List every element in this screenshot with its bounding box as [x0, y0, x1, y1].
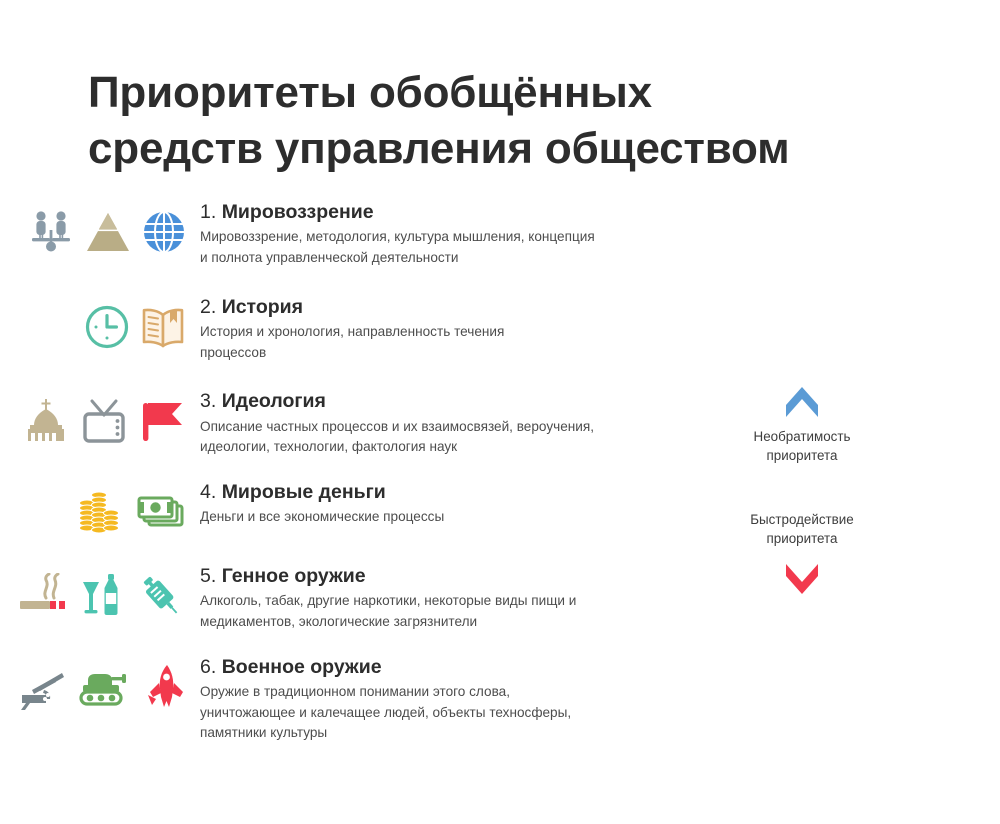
priority-item-3-heading: 3. Идеология	[200, 389, 720, 413]
priority-item-1: 1. Мировоззрение Мировоззрение, методоло…	[0, 200, 720, 269]
priority-item-1-icons	[0, 200, 200, 258]
priority-item-4-texts: 4. Мировые деньги Деньги и все экономиче…	[200, 480, 720, 528]
priority-item-4: 4. Мировые деньги Деньги и все экономиче…	[0, 480, 720, 538]
priority-item-3-name: Идеология	[222, 390, 326, 412]
flag-icon	[138, 397, 186, 445]
chevron-down-icon	[785, 563, 819, 595]
annotation-irreversibility-line-1: Необратимость	[712, 427, 892, 446]
cigarette-icon	[18, 573, 70, 619]
priority-item-5-name: Генное оружие	[222, 565, 366, 587]
page-title-line-2: средств управления обществом	[88, 121, 938, 177]
priority-item-1-texts: 1. Мировоззрение Мировоззрение, методоло…	[200, 200, 720, 269]
priority-item-3-texts: 3. Идеология Описание частных процессов …	[200, 389, 720, 458]
page-title: Приоритеты обобщённых средств управления…	[88, 65, 938, 177]
priority-item-4-description: Деньги и все экономические процессы	[200, 507, 600, 528]
annotations-panel: Необратимость приоритета Быстродействие …	[712, 386, 892, 595]
priority-item-6-description: Оружие в традиционном понимании этого сл…	[200, 682, 600, 744]
annotation-speed: Быстродействие приоритета	[712, 510, 892, 549]
priority-item-5: 5. Генное оружие Алкоголь, табак, другие…	[0, 564, 720, 633]
priority-item-5-icons	[0, 564, 200, 622]
annotation-speed-line-2: приоритета	[712, 529, 892, 548]
clock-icon	[84, 304, 130, 350]
annotation-irreversibility-line-2: приоритета	[712, 446, 892, 465]
chevron-up-icon	[785, 386, 819, 418]
priority-item-2: 2. История История и хронология, направл…	[0, 295, 720, 364]
church-icon	[22, 397, 70, 445]
priority-item-1-name: Мировоззрение	[222, 201, 374, 223]
priority-item-5-number: 5.	[200, 565, 216, 587]
priority-item-6-name: Военное оружие	[222, 656, 382, 678]
priority-item-3-icons	[0, 389, 200, 447]
priority-item-4-name: Мировые деньги	[222, 481, 386, 503]
priority-item-5-heading: 5. Генное оружие	[200, 564, 720, 588]
page-title-line-1: Приоритеты обобщённых	[88, 65, 938, 121]
priority-item-3-number: 3.	[200, 390, 216, 412]
rocket-icon	[140, 663, 186, 711]
priority-item-4-number: 4.	[200, 481, 216, 503]
globe-icon	[142, 210, 186, 254]
priority-item-6-heading: 6. Военное оружие	[200, 655, 720, 679]
rifle-icon	[18, 664, 68, 710]
annotation-irreversibility: Необратимость приоритета	[712, 427, 892, 466]
priority-list: 1. Мировоззрение Мировоззрение, методоло…	[0, 200, 720, 744]
coin-stacks-icon	[76, 489, 124, 535]
priority-item-5-description: Алкоголь, табак, другие наркотики, некот…	[200, 591, 600, 632]
priority-item-2-texts: 2. История История и хронология, направл…	[200, 295, 720, 364]
priority-item-6-icons	[0, 655, 200, 713]
annotations-divider	[712, 466, 892, 510]
annotation-speed-line-1: Быстродействие	[712, 510, 892, 529]
priority-item-3: 3. Идеология Описание частных процессов …	[0, 389, 720, 458]
priority-item-6: 6. Военное оружие Оружие в традиционном …	[0, 655, 720, 744]
priority-item-1-description: Мировоззрение, методология, культура мыш…	[200, 227, 600, 268]
priority-item-2-icons	[0, 295, 200, 353]
open-book-icon	[140, 306, 186, 348]
pyramid-icon	[84, 210, 132, 254]
priority-item-2-name: История	[222, 296, 303, 318]
priority-item-6-texts: 6. Военное оружие Оружие в традиционном …	[200, 655, 720, 744]
tank-icon	[78, 665, 130, 709]
people-balance-icon	[28, 210, 74, 254]
priority-item-4-icons	[0, 480, 200, 538]
priority-item-1-number: 1.	[200, 201, 216, 223]
priority-item-4-heading: 4. Мировые деньги	[200, 480, 720, 504]
priority-item-2-heading: 2. История	[200, 295, 720, 319]
priority-item-6-number: 6.	[200, 656, 216, 678]
priority-item-1-heading: 1. Мировоззрение	[200, 200, 720, 224]
priority-item-2-number: 2.	[200, 296, 216, 318]
syringe-icon	[136, 572, 186, 620]
infographic-page: Приоритеты обобщённых средств управления…	[0, 0, 1000, 824]
priority-item-5-texts: 5. Генное оружие Алкоголь, табак, другие…	[200, 564, 720, 633]
glass-bottle-icon	[80, 572, 126, 620]
priority-item-3-description: Описание частных процессов и их взаимосв…	[200, 417, 600, 458]
television-icon	[80, 397, 128, 445]
priority-item-2-description: История и хронология, направленность теч…	[200, 322, 545, 363]
banknotes-icon	[134, 490, 186, 534]
